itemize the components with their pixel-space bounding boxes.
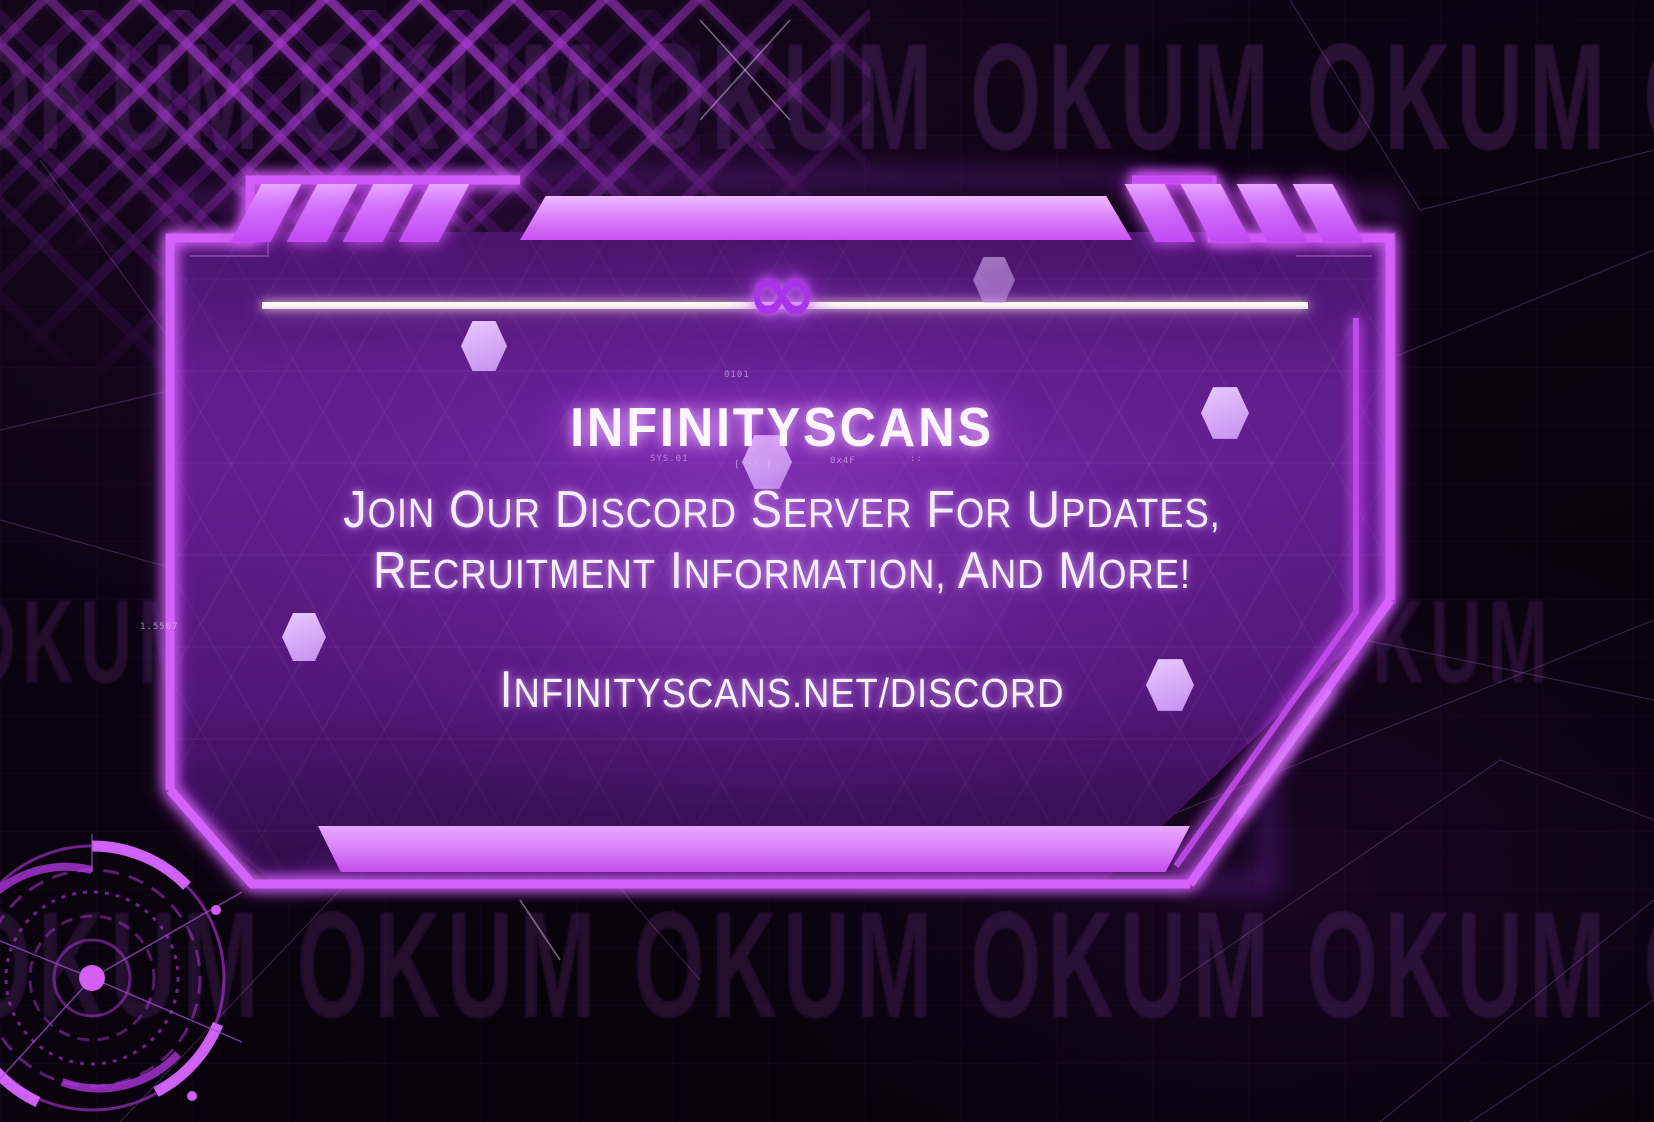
- header-divider: [262, 302, 1308, 309]
- frame-outline: [0, 0, 1654, 1122]
- stripe-group-right: [1140, 184, 1348, 242]
- stripe-group-left: [246, 184, 454, 242]
- top-accent-bar: [520, 196, 1132, 240]
- bottom-accent-bar: [318, 826, 1190, 872]
- hud-frame: [0, 0, 1654, 1122]
- banner-canvas: OKUM OKUM OKUM OKUM OKUM OKUM OKUM OKUM …: [0, 0, 1654, 1122]
